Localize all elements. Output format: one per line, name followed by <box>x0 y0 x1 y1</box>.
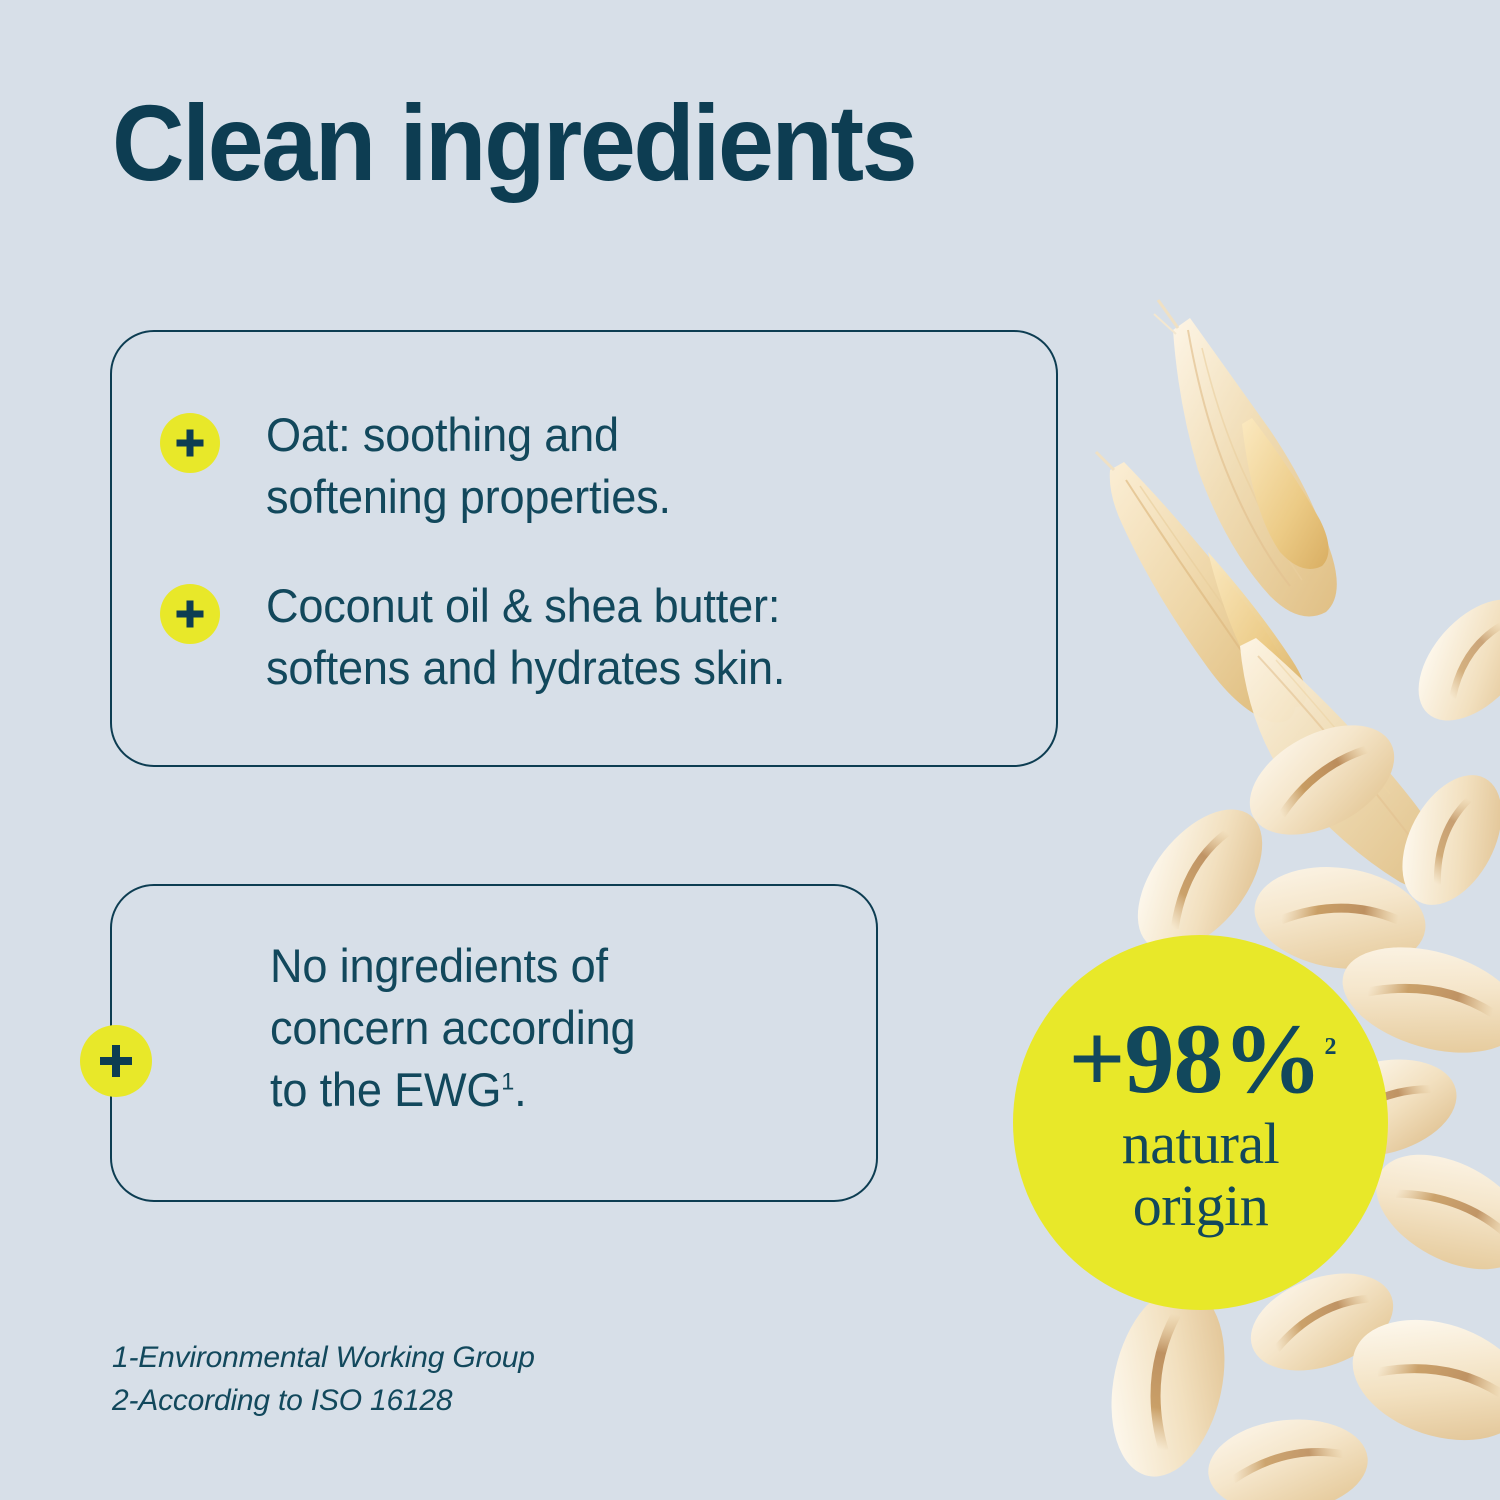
natural-origin-label-line2: origin <box>1133 1173 1269 1238</box>
footnotes: 1-Environmental Working Group 2-Accordin… <box>112 1337 535 1422</box>
bullet-oat-line2: softening properties. <box>266 470 671 523</box>
plus-icon <box>160 584 220 644</box>
footnote-marker-1: 1 <box>501 1068 514 1095</box>
bullet-ewg-text: No ingredients of concern according to t… <box>270 935 635 1121</box>
bullet-ewg-line3-period: . <box>514 1063 526 1116</box>
bullet-coconut: Coconut oil & shea butter: softens and h… <box>160 575 807 699</box>
bullet-ewg-line1: No ingredients of <box>270 939 608 992</box>
footnote-2: 2-According to ISO 16128 <box>112 1380 535 1423</box>
page-title: Clean ingredients <box>112 86 915 199</box>
natural-origin-label: natural origin <box>1122 1113 1280 1236</box>
bullet-oat: Oat: soothing and softening properties. <box>160 404 688 528</box>
bullet-ewg-line3-text: to the EWG <box>270 1063 501 1116</box>
natural-origin-number: +98% <box>1069 1003 1322 1114</box>
bullet-coconut-line2: softens and hydrates skin. <box>266 641 785 694</box>
bullet-ewg-line2: concern according <box>270 1001 635 1054</box>
bullet-oat-text: Oat: soothing and softening properties. <box>266 404 671 528</box>
bullet-coconut-line1: Coconut oil & shea butter: <box>266 579 780 632</box>
promo-graphic: Clean ingredients Oat: soothing and soft… <box>0 0 1500 1500</box>
natural-origin-label-line1: natural <box>1122 1111 1280 1176</box>
natural-origin-badge: +98%2 natural origin <box>1013 935 1388 1310</box>
bullet-ewg-line3: to the EWG1. <box>270 1063 527 1116</box>
footnote-1: 1-Environmental Working Group <box>112 1337 535 1380</box>
ingredients-card: Oat: soothing and softening properties. … <box>110 330 1058 767</box>
ewg-card: No ingredients of concern according to t… <box>110 884 878 1202</box>
bullet-coconut-text: Coconut oil & shea butter: softens and h… <box>266 575 785 699</box>
footnote-marker-2: 2 <box>1324 1034 1335 1060</box>
natural-origin-value: +98%2 <box>1069 1009 1333 1109</box>
plus-icon <box>160 413 220 473</box>
bullet-oat-line1: Oat: soothing and <box>266 408 619 461</box>
plus-icon <box>80 1025 152 1097</box>
